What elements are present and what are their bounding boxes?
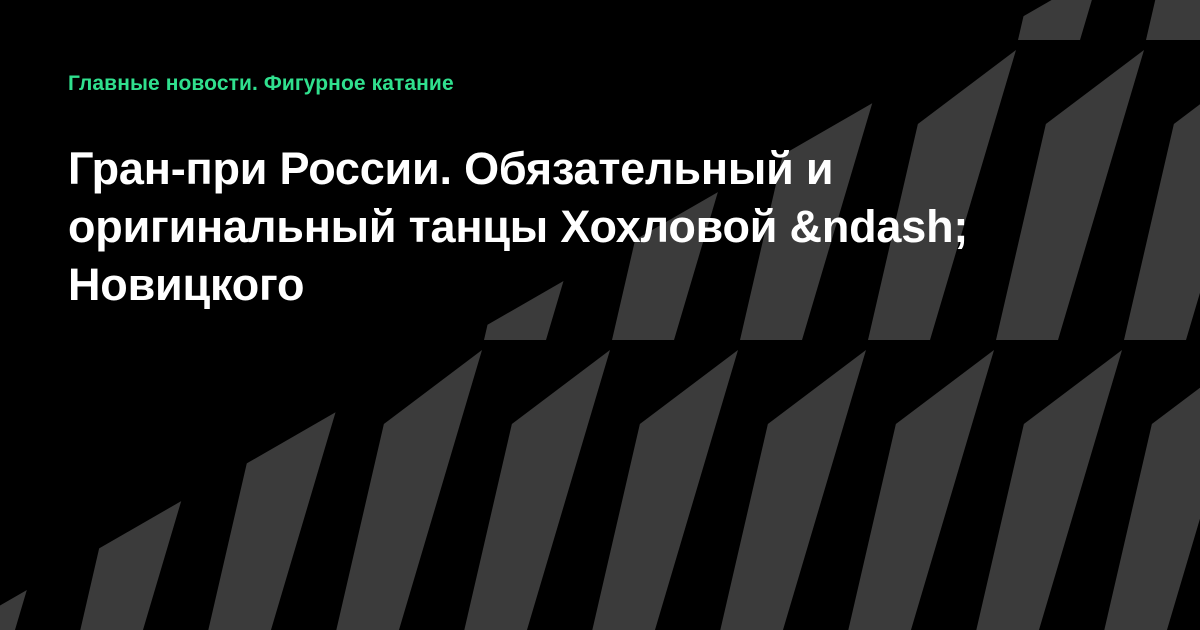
kicker-label: Главные новости. Фигурное катание	[68, 70, 1132, 98]
social-share-card: Главные новости. Фигурное катание Гран-п…	[0, 0, 1200, 630]
page-title: Гран-при России. Обязательный и оригинал…	[68, 140, 1078, 314]
card-content: Главные новости. Фигурное катание Гран-п…	[0, 0, 1200, 630]
